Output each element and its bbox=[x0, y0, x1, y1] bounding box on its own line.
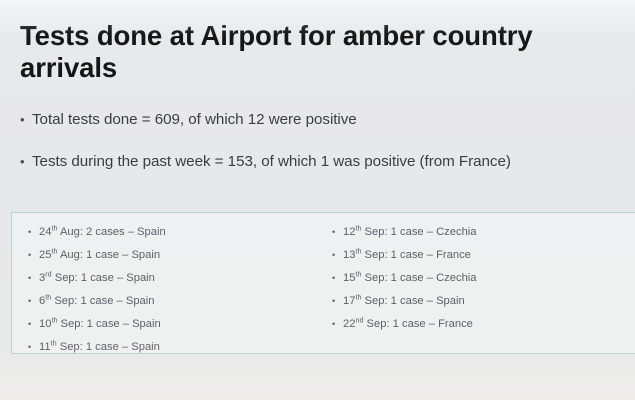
case-list-item: •24th Aug: 2 cases – Spain bbox=[28, 221, 328, 244]
ordinal-suffix: th bbox=[355, 223, 361, 232]
ordinal-suffix: rd bbox=[45, 269, 51, 278]
case-list-item: •10th Sep: 1 case – Spain bbox=[28, 313, 328, 336]
bullet-marker-icon: • bbox=[332, 244, 343, 267]
ordinal-suffix: th bbox=[51, 246, 57, 255]
case-list-item: •15th Sep: 1 case – Czechia bbox=[332, 267, 632, 290]
bullet-marker-icon: • bbox=[332, 267, 343, 290]
case-list-item-text: 15th Sep: 1 case – Czechia bbox=[343, 267, 477, 290]
bullet-marker-icon: • bbox=[20, 152, 32, 172]
case-list-item: •17th Sep: 1 case – Spain bbox=[332, 290, 632, 313]
case-list-item-text: 17th Sep: 1 case – Spain bbox=[343, 290, 465, 313]
case-list-item-text: 3rd Sep: 1 case – Spain bbox=[39, 267, 155, 290]
case-list-item: •11th Sep: 1 case – Spain bbox=[28, 336, 328, 359]
bullet-marker-icon: • bbox=[332, 313, 343, 336]
ordinal-suffix: th bbox=[355, 246, 361, 255]
slide-title: Tests done at Airport for amber country … bbox=[20, 20, 620, 84]
summary-bullet-item: • Total tests done = 609, of which 12 we… bbox=[20, 110, 632, 130]
summary-bullet-item: • Tests during the past week = 153, of w… bbox=[20, 152, 632, 172]
ordinal-suffix: th bbox=[51, 223, 57, 232]
ordinal-suffix: th bbox=[51, 315, 57, 324]
case-list-item: •22nd Sep: 1 case – France bbox=[332, 313, 632, 336]
case-detail-panel: •24th Aug: 2 cases – Spain•25th Aug: 1 c… bbox=[11, 212, 635, 354]
case-list-item: •3rd Sep: 1 case – Spain bbox=[28, 267, 328, 290]
case-list-item-text: 24th Aug: 2 cases – Spain bbox=[39, 221, 166, 244]
case-list-item-text: 13th Sep: 1 case – France bbox=[343, 244, 471, 267]
bullet-marker-icon: • bbox=[28, 313, 39, 336]
case-list-item-text: 12th Sep: 1 case – Czechia bbox=[343, 221, 477, 244]
case-list-item: •12th Sep: 1 case – Czechia bbox=[332, 221, 632, 244]
case-list-item-text: 11th Sep: 1 case – Spain bbox=[39, 336, 160, 359]
case-list-item: •6th Sep: 1 case – Spain bbox=[28, 290, 328, 313]
case-list-right-column: •12th Sep: 1 case – Czechia•13th Sep: 1 … bbox=[332, 221, 632, 336]
ordinal-suffix: nd bbox=[355, 315, 363, 324]
bullet-marker-icon: • bbox=[28, 244, 39, 267]
bullet-marker-icon: • bbox=[332, 290, 343, 313]
ordinal-suffix: th bbox=[355, 269, 361, 278]
bullet-marker-icon: • bbox=[20, 110, 32, 130]
case-list-item-text: 6th Sep: 1 case – Spain bbox=[39, 290, 154, 313]
ordinal-suffix: th bbox=[51, 338, 57, 347]
summary-bullet-text: Tests during the past week = 153, of whi… bbox=[32, 152, 632, 172]
summary-bullet-text: Total tests done = 609, of which 12 were… bbox=[32, 110, 632, 130]
presentation-slide: Tests done at Airport for amber country … bbox=[0, 0, 635, 400]
ordinal-suffix: th bbox=[45, 292, 51, 301]
case-list-item-text: 22nd Sep: 1 case – France bbox=[343, 313, 473, 336]
bullet-marker-icon: • bbox=[28, 336, 39, 359]
case-list-item-text: 10th Sep: 1 case – Spain bbox=[39, 313, 161, 336]
bullet-marker-icon: • bbox=[332, 221, 343, 244]
summary-bullet-list: • Total tests done = 609, of which 12 we… bbox=[20, 110, 632, 194]
bullet-marker-icon: • bbox=[28, 221, 39, 244]
bullet-marker-icon: • bbox=[28, 267, 39, 290]
case-list-item-text: 25th Aug: 1 case – Spain bbox=[39, 244, 160, 267]
case-list-item: •13th Sep: 1 case – France bbox=[332, 244, 632, 267]
bullet-marker-icon: • bbox=[28, 290, 39, 313]
case-list-left-column: •24th Aug: 2 cases – Spain•25th Aug: 1 c… bbox=[28, 221, 328, 359]
case-list-item: •25th Aug: 1 case – Spain bbox=[28, 244, 328, 267]
ordinal-suffix: th bbox=[355, 292, 361, 301]
